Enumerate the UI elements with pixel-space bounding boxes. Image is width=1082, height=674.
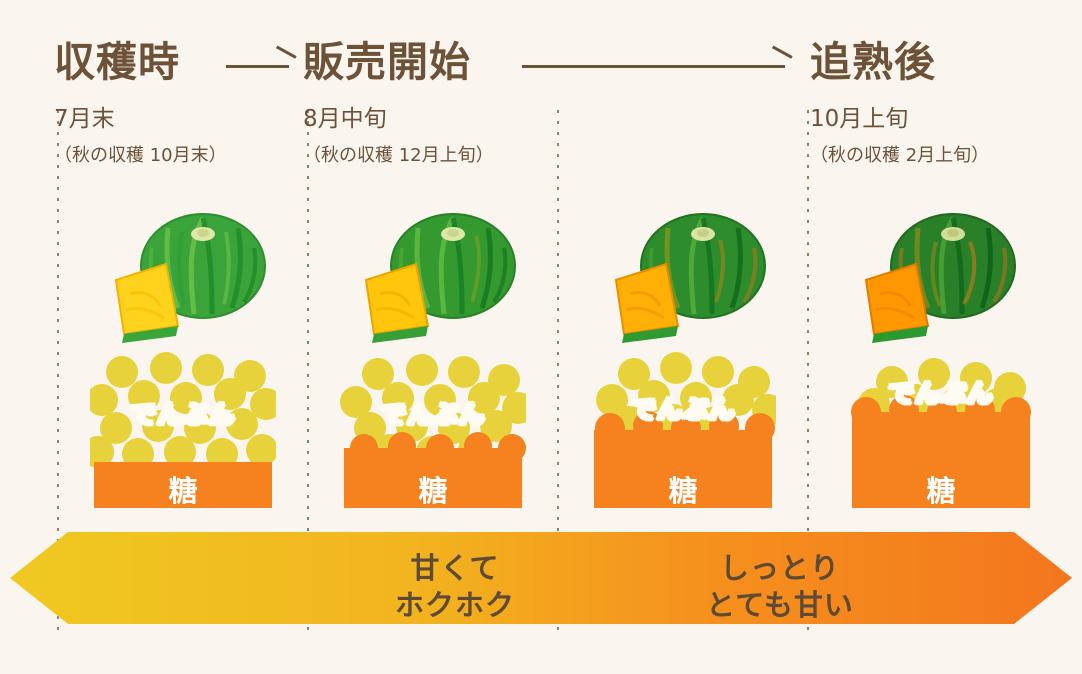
stage-date-4: 10月上旬 [810, 99, 989, 133]
sugar-bar-2 [344, 432, 526, 508]
column-header-1: 収穫時 7月末 （秋の収穫 10月末） [54, 42, 227, 167]
starch-sugar-graphic-3: でんぷん [590, 352, 776, 512]
sugar-bar-3 [594, 411, 775, 508]
squash-wedge-3 [616, 264, 678, 343]
stage-date-2: 8月中旬 [303, 99, 494, 133]
banner-text-right: しっとり とても甘い [650, 550, 910, 624]
connector-arrow-2 [522, 54, 792, 78]
stage-date-1: 7月末 [54, 99, 227, 133]
banner-text-left: 甘くて ホクホク [340, 550, 570, 624]
column-header-2: 販売開始 8月中旬 （秋の収穫 12月上旬） [303, 42, 494, 167]
pumpkin-illustration-3 [608, 198, 788, 348]
stage-title-4: 追熟後 [810, 42, 989, 83]
starch-sugar-graphic-4: でんぷん [848, 352, 1034, 512]
sugar-bar-4 [851, 395, 1031, 508]
stage-sub-1: （秋の収穫 10月末） [54, 141, 227, 167]
starch-sugar-graphic-2: でんぷん [340, 352, 526, 512]
squash-wedge-4 [866, 264, 928, 343]
squash-wedge-2 [366, 264, 428, 343]
starch-sugar-graphic-1: でんぷん [90, 352, 276, 512]
infographic-canvas: 収穫時 7月末 （秋の収穫 10月末） 販売開始 8月中旬 （秋の収穫 12月上… [0, 0, 1082, 674]
stage-sub-2: （秋の収穫 12月上旬） [303, 141, 494, 167]
squash-wedge-1 [116, 264, 178, 343]
pumpkin-illustration-2 [358, 198, 538, 348]
stage-title-1: 収穫時 [54, 42, 227, 83]
taste-progression-banner: 甘くて ホクホク しっとり とても甘い [10, 528, 1072, 628]
connector-arrow-1 [226, 54, 296, 78]
column-header-4: 追熟後 10月上旬 （秋の収穫 2月上旬） [810, 42, 989, 167]
starch-dots-1 [90, 352, 276, 470]
sugar-bar-1 [94, 462, 272, 508]
stage-title-2: 販売開始 [303, 42, 494, 83]
pumpkin-illustration-4 [858, 198, 1038, 348]
pumpkin-illustration-1 [108, 198, 288, 348]
stage-sub-4: （秋の収穫 2月上旬） [810, 141, 989, 167]
